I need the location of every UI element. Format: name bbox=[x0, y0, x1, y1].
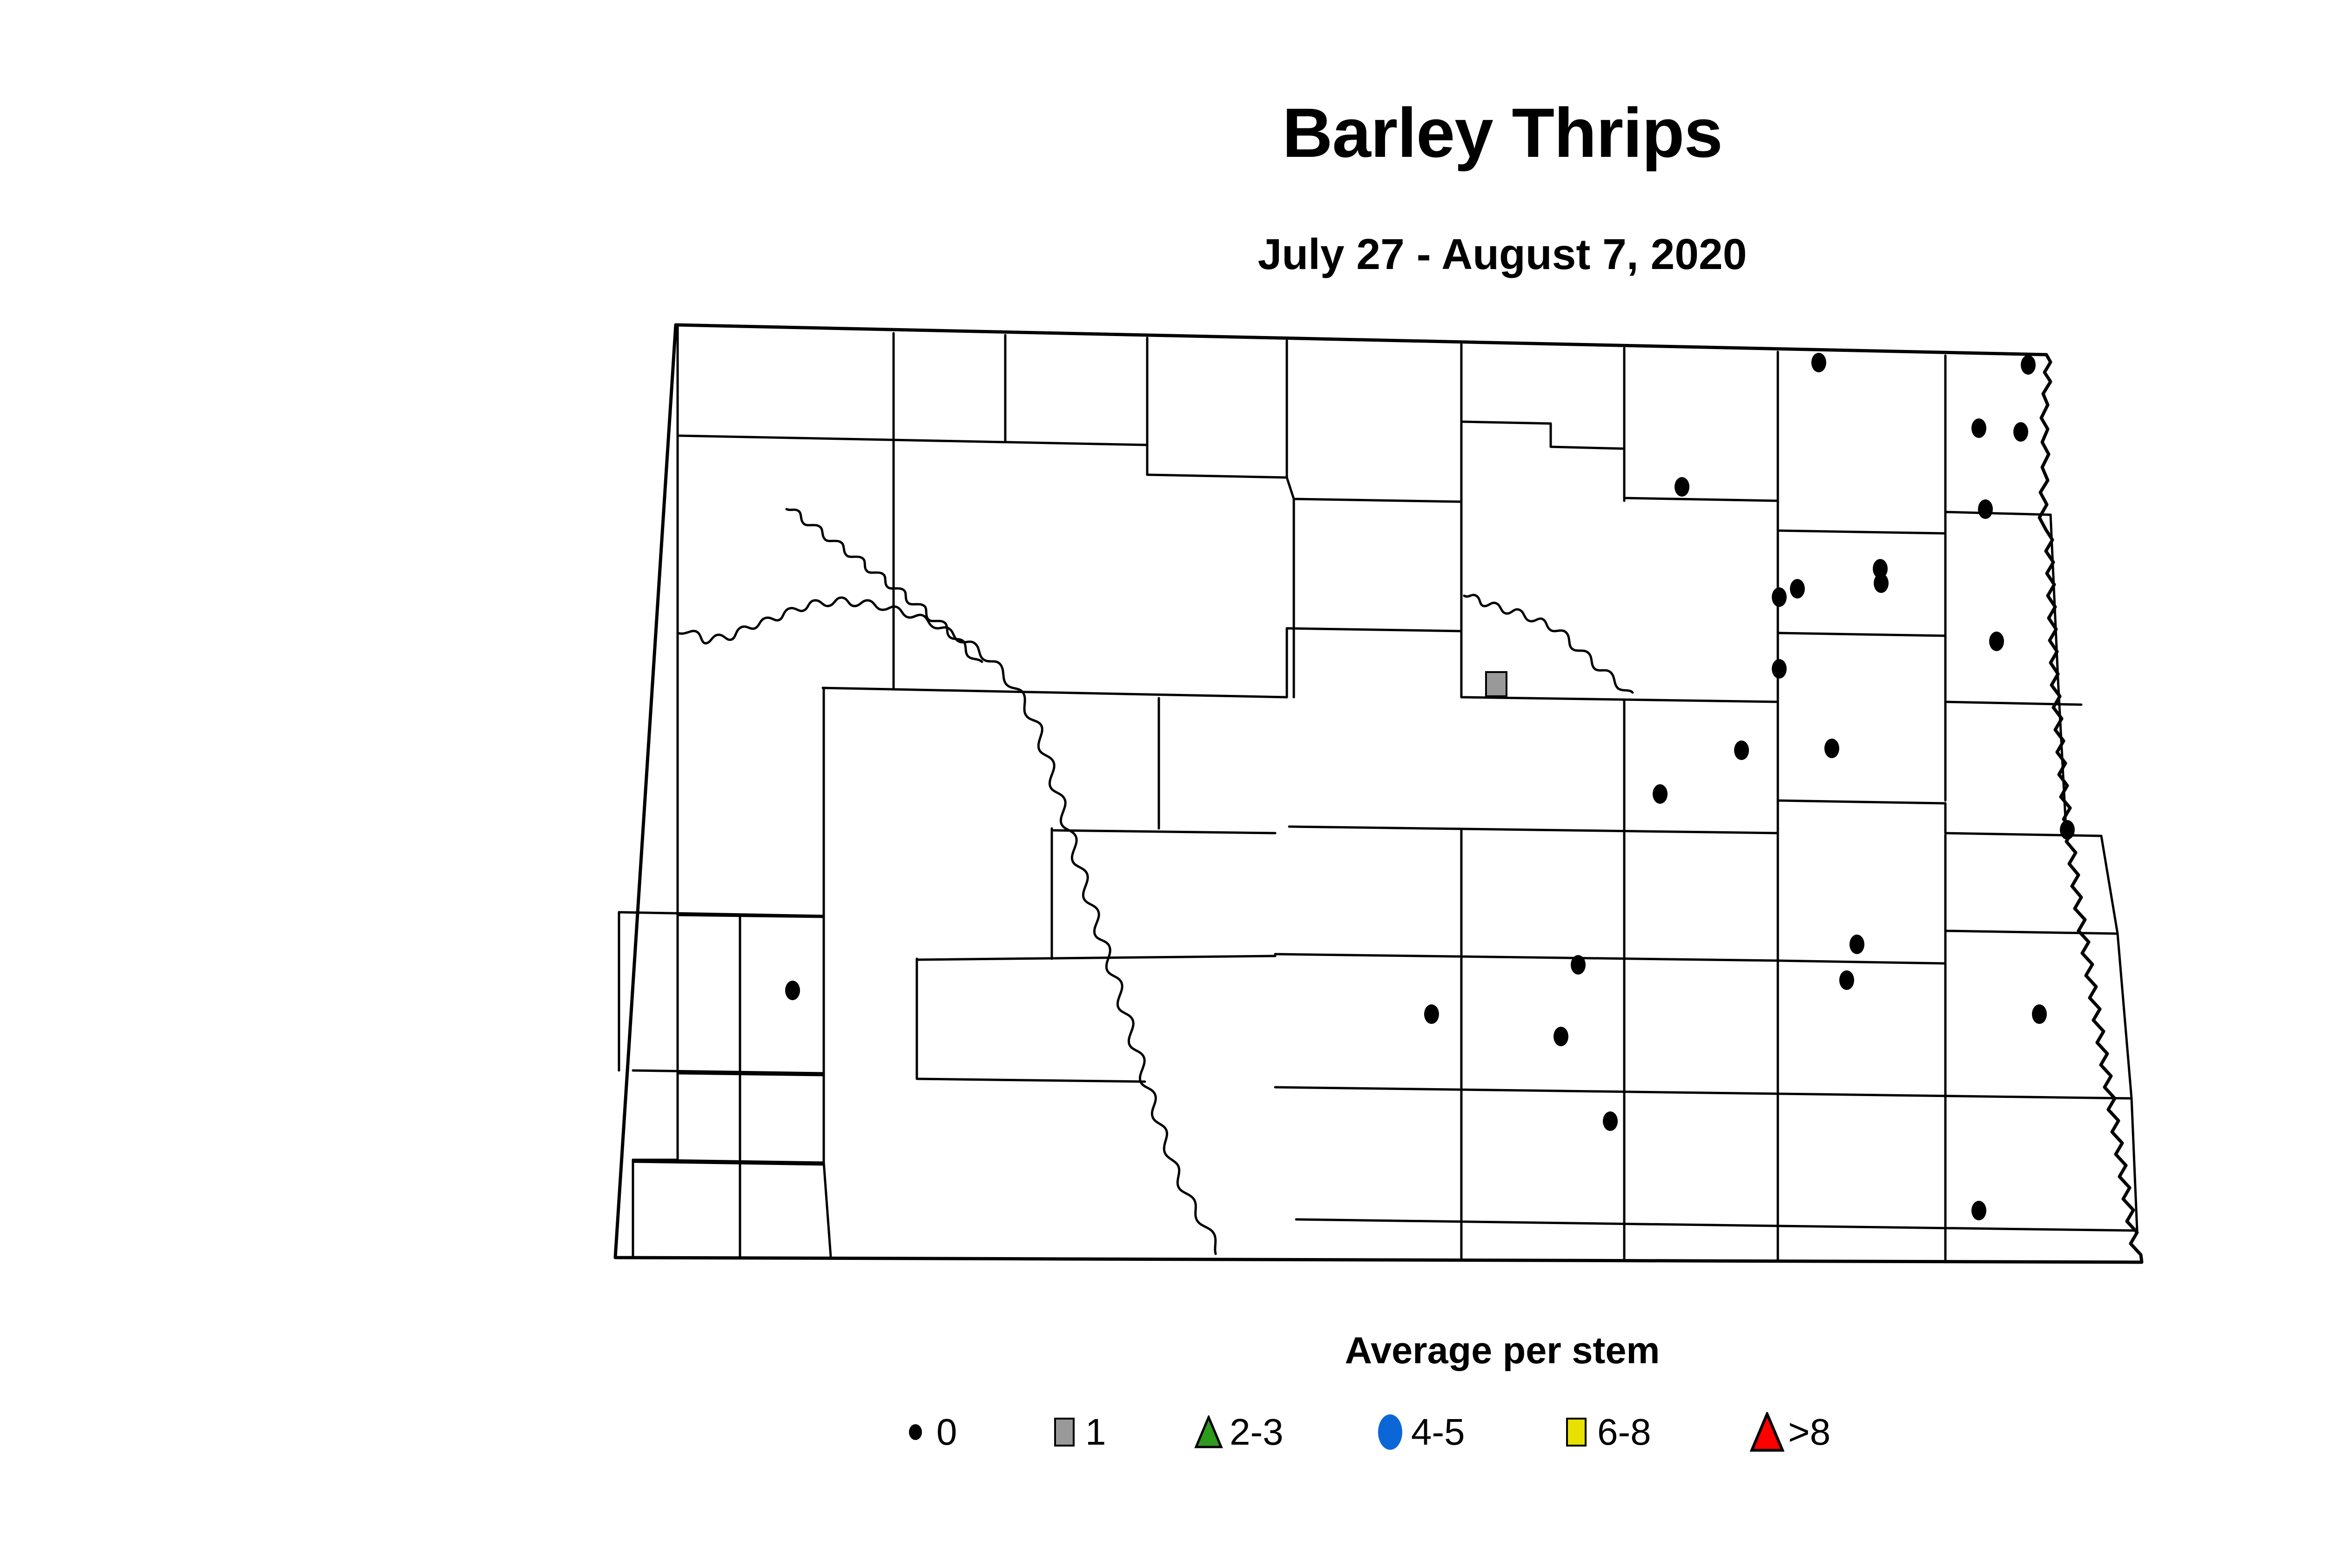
legend-label-2: 2-3 bbox=[1230, 1413, 1284, 1451]
state-outline bbox=[615, 325, 2142, 1262]
green-triangle-icon bbox=[1191, 1413, 1226, 1451]
legend-label-3: 4-5 bbox=[1411, 1413, 1465, 1451]
data-point-0-23[interactable] bbox=[785, 981, 800, 1000]
data-point-0-5[interactable] bbox=[1978, 499, 1993, 519]
data-point-0-16[interactable] bbox=[2060, 820, 2075, 840]
yellow-square-icon bbox=[1559, 1413, 1594, 1451]
data-point-0-4[interactable] bbox=[1675, 477, 1689, 497]
data-point-0-0[interactable] bbox=[1811, 353, 1826, 372]
legend-label-1: 1 bbox=[1085, 1413, 1106, 1451]
data-point-0-11[interactable] bbox=[1772, 659, 1787, 679]
data-point-0-25[interactable] bbox=[1971, 1201, 1986, 1220]
county-boundaries bbox=[615, 325, 2142, 1262]
data-point-0-17[interactable] bbox=[1849, 935, 1864, 954]
data-point-0-19[interactable] bbox=[1571, 955, 1586, 975]
legend-item-5[interactable]: >8 bbox=[1750, 1406, 1830, 1458]
legend-heading: Average per stem bbox=[0, 1332, 2327, 1370]
blue-circle-icon bbox=[1373, 1413, 1407, 1451]
legend: 0 1 2-3 4-5 6-8 >8 bbox=[898, 1406, 2108, 1462]
data-point-1-12[interactable] bbox=[1486, 672, 1506, 696]
data-point-0-13[interactable] bbox=[1734, 740, 1749, 760]
legend-label-5: >8 bbox=[1788, 1413, 1830, 1451]
legend-item-1[interactable]: 1 bbox=[1047, 1406, 1106, 1458]
gray-square-icon bbox=[1047, 1413, 1082, 1451]
black-dot-icon bbox=[898, 1413, 933, 1451]
page-title: Barley Thrips bbox=[0, 98, 2327, 168]
vline-e2 bbox=[2101, 836, 2118, 934]
data-point-0-18[interactable] bbox=[1839, 970, 1854, 990]
data-point-0-8[interactable] bbox=[1790, 579, 1805, 599]
data-point-0-7[interactable] bbox=[1874, 573, 1889, 593]
data-point-0-15[interactable] bbox=[1653, 784, 1668, 804]
data-point-0-21[interactable] bbox=[1424, 1004, 1439, 1024]
data-point-0-1[interactable] bbox=[2021, 355, 2036, 375]
vline-e3 bbox=[2118, 934, 2132, 1098]
map-svg bbox=[586, 307, 2243, 1299]
legend-item-3[interactable]: 4-5 bbox=[1373, 1406, 1465, 1458]
data-point-0-22[interactable] bbox=[2032, 1004, 2047, 1024]
red-triangle-icon bbox=[1750, 1413, 1784, 1451]
legend-item-4[interactable]: 6-8 bbox=[1559, 1406, 1651, 1458]
legend-label-4: 6-8 bbox=[1597, 1413, 1651, 1451]
data-point-0-10[interactable] bbox=[1989, 632, 2004, 651]
page-subtitle: July 27 - August 7, 2020 bbox=[0, 233, 2327, 276]
map-page: Barley Thrips July 27 - August 7, 2020 bbox=[0, 0, 2327, 1568]
legend-item-0[interactable]: 0 bbox=[898, 1406, 957, 1458]
data-point-0-24[interactable] bbox=[1603, 1111, 1618, 1131]
data-point-0-14[interactable] bbox=[1824, 739, 1839, 758]
north-dakota-map[interactable] bbox=[586, 307, 2243, 1299]
legend-label-0: 0 bbox=[936, 1413, 957, 1451]
data-point-0-9[interactable] bbox=[1772, 587, 1787, 607]
data-point-0-2[interactable] bbox=[1971, 418, 1986, 438]
legend-item-2[interactable]: 2-3 bbox=[1191, 1406, 1284, 1458]
data-point-0-3[interactable] bbox=[2013, 422, 2028, 442]
data-point-0-20[interactable] bbox=[1554, 1027, 1568, 1046]
